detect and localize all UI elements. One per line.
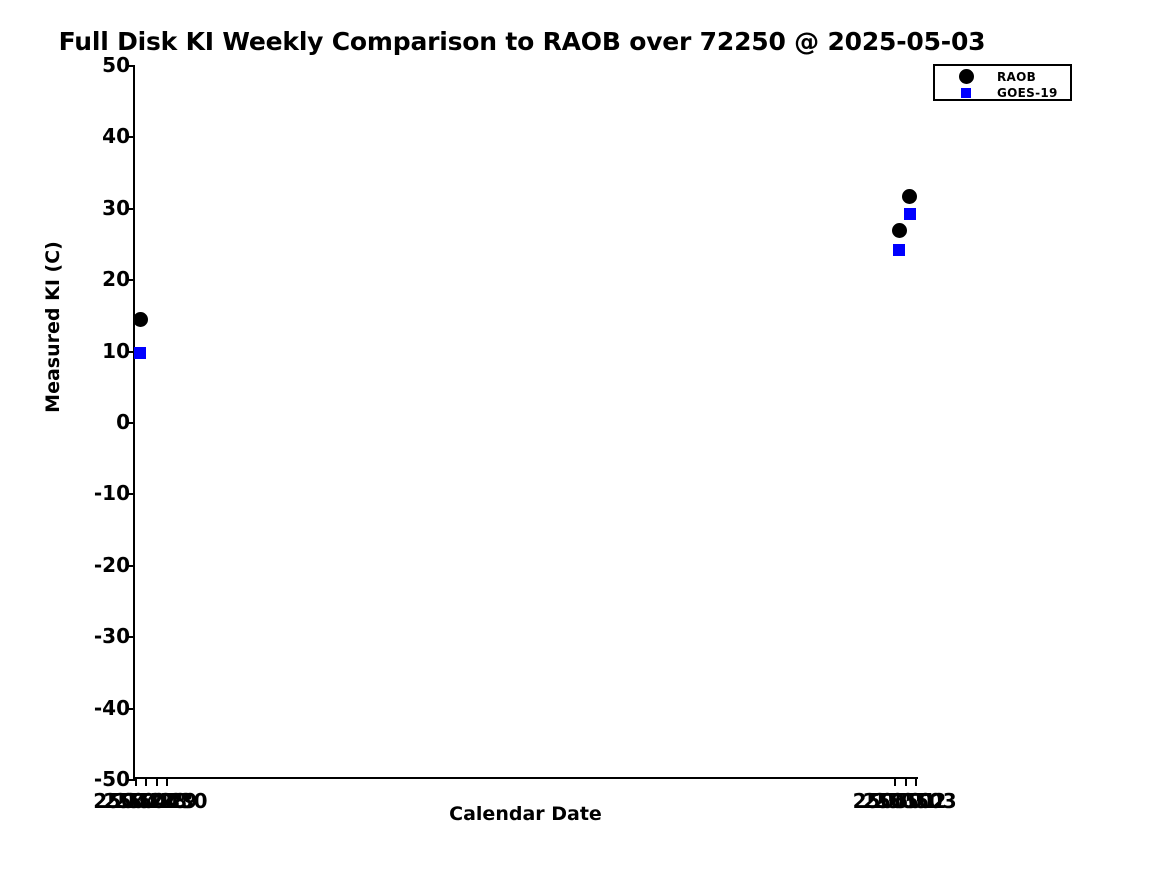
data-point-goes-19 xyxy=(134,347,146,359)
x-axis-tick xyxy=(915,777,917,786)
chart-title: Full Disk KI Weekly Comparison to RAOB o… xyxy=(0,27,1044,56)
data-point-goes-19 xyxy=(893,244,905,256)
y-axis-label: Measured KI (C) xyxy=(42,227,64,427)
y-axis-tick-label: 0 xyxy=(116,410,130,434)
x-axis-tick xyxy=(145,777,147,786)
y-axis-tick-label: -20 xyxy=(94,553,130,577)
data-point-raob xyxy=(902,189,917,204)
plot-inner: 50403020100-10-20-30-40-5025042725042825… xyxy=(135,65,918,777)
legend-label: GOES-19 xyxy=(997,86,1058,100)
x-axis-tick xyxy=(156,777,158,786)
y-axis-tick-label: -50 xyxy=(94,767,130,791)
y-axis-tick-label: -40 xyxy=(94,696,130,720)
y-axis-tick-label: 10 xyxy=(102,339,130,363)
legend-label: RAOB xyxy=(997,70,1036,84)
y-axis-tick-label: -10 xyxy=(94,481,130,505)
x-axis-tick xyxy=(166,777,168,786)
data-point-raob xyxy=(133,312,148,327)
x-axis-tick xyxy=(905,777,907,786)
data-point-goes-19 xyxy=(904,208,916,220)
y-axis-tick-label: -30 xyxy=(94,624,130,648)
y-axis-tick-label: 30 xyxy=(102,196,130,220)
y-axis-tick-label: 20 xyxy=(102,267,130,291)
x-axis-tick xyxy=(135,777,137,786)
legend-entry-goes-19: GOES-19 xyxy=(935,85,1070,100)
legend-square-icon xyxy=(961,88,971,98)
legend-circle-icon xyxy=(959,69,974,84)
chart-figure: Full Disk KI Weekly Comparison to RAOB o… xyxy=(0,0,1167,875)
plot-area: 50403020100-10-20-30-40-5025042725042825… xyxy=(133,65,918,779)
x-axis-tick xyxy=(894,777,896,786)
legend-marker-wrap xyxy=(935,69,997,84)
data-point-raob xyxy=(892,223,907,238)
legend-marker-wrap xyxy=(935,88,997,98)
chart-legend: RAOBGOES-19 xyxy=(933,64,1072,101)
y-axis-tick-label: 50 xyxy=(102,53,130,77)
legend-entry-raob: RAOB xyxy=(935,69,1070,84)
y-axis-tick-label: 40 xyxy=(102,124,130,148)
x-axis-label: Calendar Date xyxy=(133,803,918,825)
